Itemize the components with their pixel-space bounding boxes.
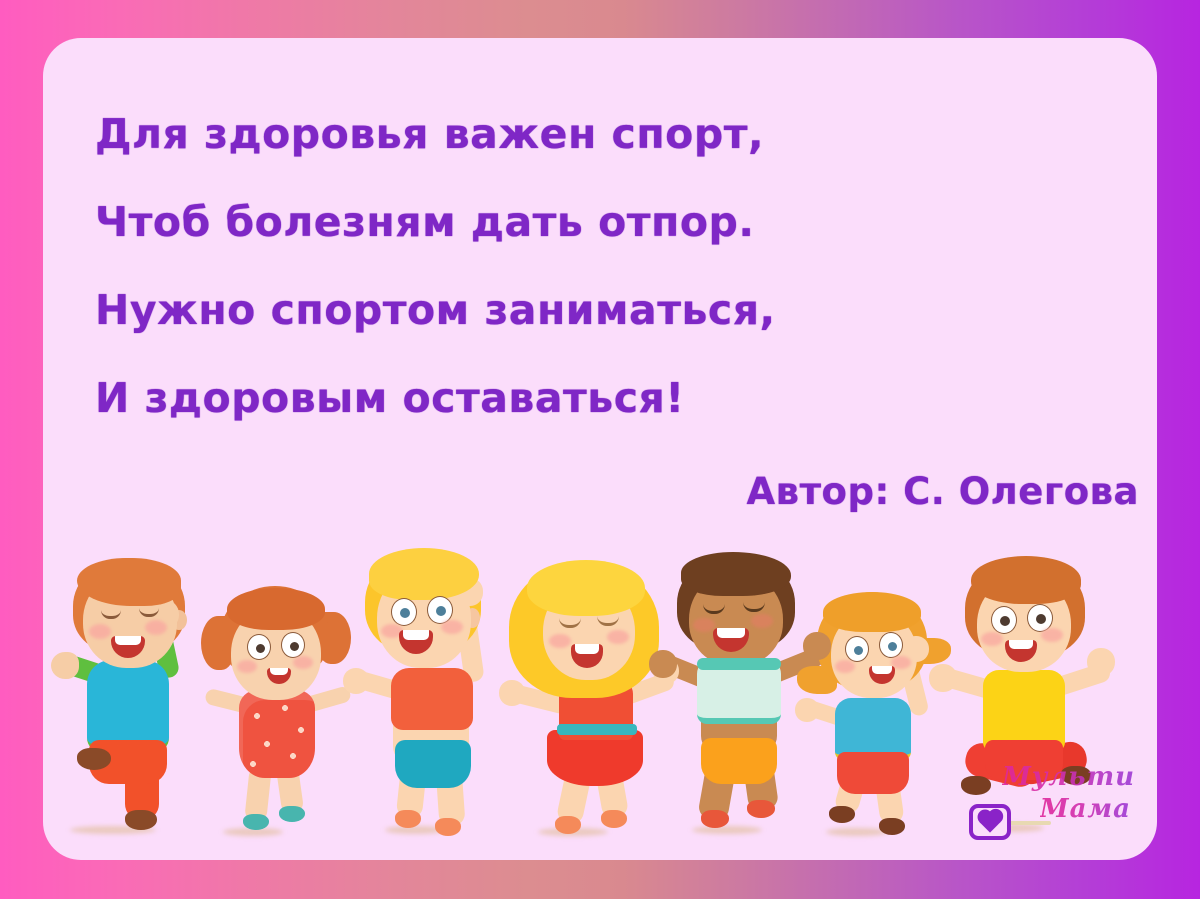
cheek-left xyxy=(89,624,111,639)
head xyxy=(831,610,917,698)
hair-back xyxy=(73,558,185,654)
dress-belt xyxy=(557,724,637,735)
eye-right-closed xyxy=(139,608,159,617)
eye-right-closed xyxy=(597,616,619,626)
hair-bangs xyxy=(369,548,479,600)
pupil-right xyxy=(1036,614,1046,624)
hand-right xyxy=(903,636,929,662)
pupil-right xyxy=(436,606,446,616)
ear-right xyxy=(465,608,480,628)
head xyxy=(83,572,177,668)
poem-block: Для здоровья важен спорт, Чтоб болезням … xyxy=(95,90,995,442)
poem-line-3: Нужно спортом заниматься, xyxy=(95,266,995,354)
watermark-line-1: Мульти xyxy=(1002,762,1135,792)
belly xyxy=(701,694,777,754)
head xyxy=(977,576,1071,672)
author-credit: Автор: С. Олегова xyxy=(747,470,1139,513)
hair-bangs xyxy=(527,560,645,616)
hand-right xyxy=(653,658,679,684)
head xyxy=(377,568,471,668)
yellow-tank xyxy=(983,670,1065,752)
shorts xyxy=(89,740,167,784)
hair-back xyxy=(221,586,329,680)
arm-left xyxy=(936,666,1001,701)
eye-right xyxy=(427,596,453,624)
leg-left xyxy=(555,766,592,826)
ground-shadow xyxy=(826,828,888,836)
mouth xyxy=(1005,640,1037,662)
pupil-right xyxy=(888,642,897,651)
hair-bangs xyxy=(227,588,325,630)
head xyxy=(543,582,635,680)
shorts xyxy=(837,752,909,794)
ground-shadow xyxy=(385,826,445,834)
eye-left-closed xyxy=(703,604,725,614)
ground-shadow xyxy=(692,826,762,834)
hand-left xyxy=(795,698,819,722)
pupil-left xyxy=(400,608,410,618)
child-boy-ginger-cyan-shirt xyxy=(51,552,216,842)
poem-line-2: Чтоб болезням дать отпор. xyxy=(95,178,995,266)
foot-left xyxy=(701,810,729,828)
cheek-left xyxy=(549,634,571,648)
eye-left xyxy=(247,634,271,660)
dress-bodice xyxy=(559,678,633,740)
pupil-right xyxy=(290,642,299,651)
belly xyxy=(393,692,469,766)
cheek-right xyxy=(751,614,773,628)
hair-curly xyxy=(681,552,791,596)
cheek-left xyxy=(835,660,855,673)
ground-shadow xyxy=(70,826,156,834)
braid-right xyxy=(909,638,951,664)
shorts xyxy=(701,738,777,784)
shorts xyxy=(395,740,471,788)
leg-left xyxy=(85,734,139,779)
hair-back xyxy=(817,592,927,690)
hand-left xyxy=(499,680,525,706)
leg-right xyxy=(595,764,630,820)
leg-right xyxy=(276,763,305,816)
poster-canvas: Для здоровья важен спорт, Чтоб болезням … xyxy=(0,0,1200,899)
shoe-right xyxy=(279,806,305,822)
hand-right xyxy=(803,632,831,660)
head xyxy=(689,572,783,666)
dress xyxy=(239,690,315,778)
child-girl-pigtails-red-dress xyxy=(195,572,360,842)
foot-left xyxy=(395,810,421,828)
hand-left xyxy=(929,664,957,692)
leg-right xyxy=(434,751,465,827)
braid-left xyxy=(797,666,837,694)
poem-line-4: И здоровым оставаться! xyxy=(95,354,995,442)
leg-left xyxy=(396,753,429,819)
top-strap xyxy=(697,658,781,670)
tv-heart-icon xyxy=(969,804,1011,840)
cheek-left xyxy=(381,624,403,638)
arm-right xyxy=(150,623,181,680)
cheek-right xyxy=(293,656,313,669)
cheek-left xyxy=(693,618,715,632)
hair-back xyxy=(365,550,481,654)
foot-right xyxy=(601,810,627,828)
cheek-right xyxy=(891,656,911,669)
poem-card: Для здоровья важен спорт, Чтоб болезням … xyxy=(43,38,1157,860)
leg-right xyxy=(873,767,905,826)
child-blonde-orange-top-teal-shorts xyxy=(343,542,518,842)
arm-right xyxy=(453,597,484,683)
shoe-left xyxy=(243,814,269,830)
dress-dots xyxy=(239,690,315,778)
foot-right xyxy=(435,818,461,836)
arm-right xyxy=(1050,661,1113,698)
ear-right xyxy=(171,610,187,630)
torso-shirt xyxy=(87,660,169,752)
hair-bangs xyxy=(823,592,921,632)
head xyxy=(231,606,321,700)
cheek-right xyxy=(145,620,167,635)
eye-right xyxy=(281,632,305,658)
hand-right xyxy=(1087,648,1115,676)
leg-right xyxy=(741,746,779,812)
cheek-right xyxy=(607,630,629,644)
mint-top xyxy=(697,658,781,724)
ground-shadow xyxy=(223,828,283,836)
arm-left xyxy=(800,698,856,730)
ground-shadow xyxy=(538,828,608,836)
eye-right xyxy=(1027,604,1053,632)
child-girl-braids-blue-top xyxy=(795,574,965,842)
arm-right xyxy=(898,657,929,718)
blue-top xyxy=(835,698,911,760)
pupil-left xyxy=(854,646,863,655)
hand-right xyxy=(151,600,179,629)
child-girl-longblonde-red-dress xyxy=(495,552,680,842)
watermark-logo: Мульти Мама xyxy=(965,756,1141,842)
arm-left xyxy=(348,668,409,701)
arm-right xyxy=(298,685,352,715)
arm-left xyxy=(204,688,260,717)
pigtail-right xyxy=(317,612,351,664)
hair-bangs xyxy=(971,556,1081,604)
eye-right-closed xyxy=(743,602,765,612)
mouth xyxy=(399,630,433,654)
pupil-left xyxy=(1000,616,1010,626)
mouth xyxy=(111,636,145,658)
shoe-right xyxy=(879,818,905,835)
arm-left xyxy=(506,683,571,715)
eye-left xyxy=(991,606,1017,634)
leg-right xyxy=(125,748,159,820)
mouth xyxy=(571,644,603,668)
hair-back xyxy=(965,558,1085,658)
foot-left xyxy=(555,816,581,834)
hand-right xyxy=(455,578,483,606)
mouth xyxy=(267,668,291,684)
cheek-left xyxy=(981,632,1003,646)
child-boy-darkskin-mint-top xyxy=(653,552,833,842)
eye-left-closed xyxy=(101,610,121,619)
mouth xyxy=(869,666,895,684)
eye-left xyxy=(845,636,869,662)
arm-right xyxy=(616,671,677,708)
mouth xyxy=(713,628,749,652)
hand-left xyxy=(51,652,79,679)
crop-top xyxy=(391,668,473,730)
cheek-left xyxy=(237,660,257,673)
hair-back xyxy=(677,554,795,652)
shoe-left xyxy=(829,806,855,823)
heart-shape xyxy=(979,811,1000,832)
eye-right xyxy=(879,632,903,658)
leg-left xyxy=(833,764,869,817)
shoe-right xyxy=(125,810,157,830)
hand-left xyxy=(343,668,369,694)
hair-back xyxy=(509,562,659,698)
hand-left xyxy=(649,650,677,678)
leg-left xyxy=(697,748,739,822)
shoe-left xyxy=(77,748,111,770)
watermark-line-2: Мама xyxy=(1040,794,1131,824)
cheek-right xyxy=(1041,628,1063,642)
dress-skirt xyxy=(547,730,643,786)
eye-left-closed xyxy=(559,618,581,628)
leg-left xyxy=(244,765,272,823)
pupil-left xyxy=(256,644,265,653)
pigtail-left xyxy=(201,616,235,670)
cheek-right xyxy=(441,620,463,634)
eye-left xyxy=(391,598,417,626)
arm-right xyxy=(764,645,827,685)
arm-left xyxy=(55,652,116,689)
foot-right xyxy=(747,800,775,818)
hair-front xyxy=(77,558,181,606)
poem-line-1: Для здоровья важен спорт, xyxy=(95,90,995,178)
arm-left xyxy=(654,651,719,692)
